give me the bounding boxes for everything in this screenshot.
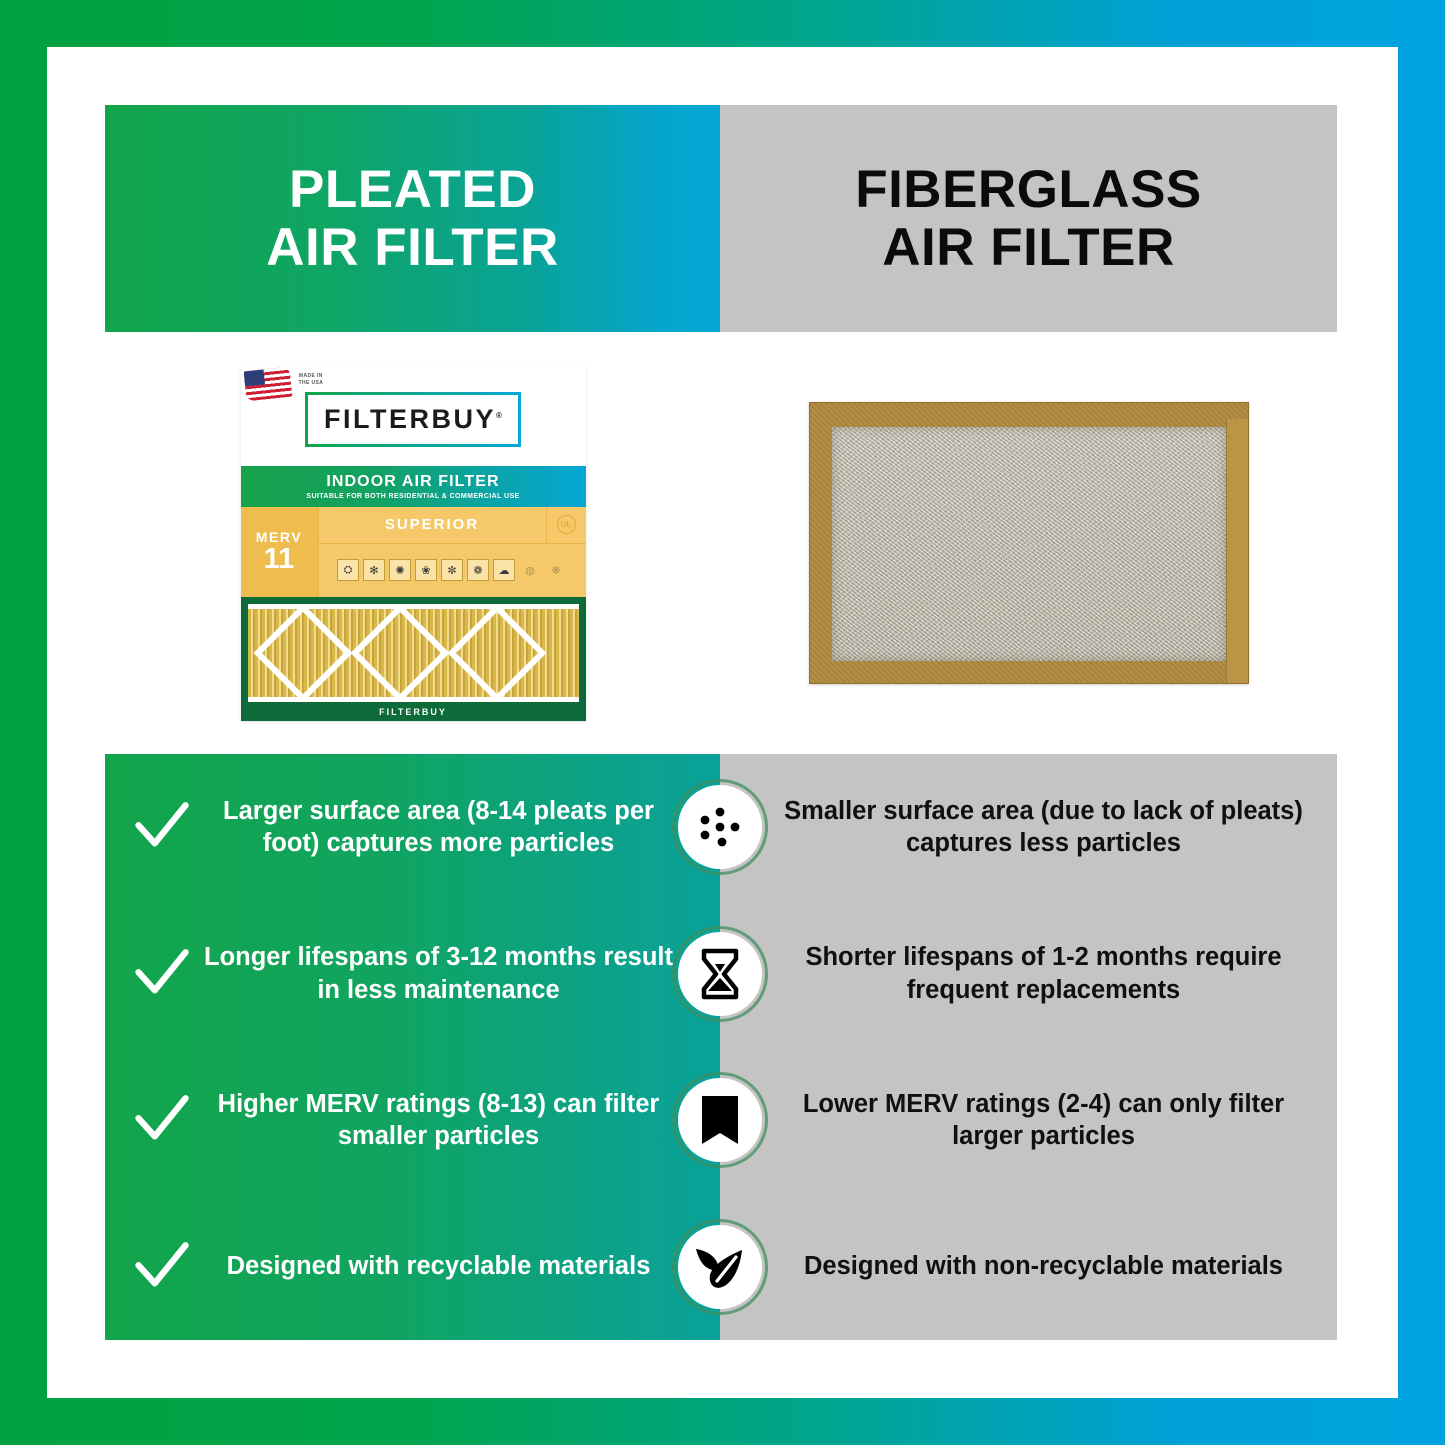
pollen-icon: ❀ (415, 559, 437, 581)
checkmark-icon (133, 798, 191, 856)
tier-row: SUPERIOR UL (319, 507, 586, 544)
pleated-media (248, 604, 579, 702)
header-row: PLEATED AIR FILTER FIBERGLASS AIR FILTER (105, 105, 1337, 332)
ul-mark-text: UL (557, 515, 576, 534)
filterbuy-logo-text: FILTERBUY® (324, 404, 502, 435)
pleated-benefit-text: Designed with recyclable materials (203, 1250, 674, 1283)
tier-label: SUPERIOR (319, 516, 546, 533)
fiberglass-drawback-text: Designed with non-recyclable materials (776, 1250, 1311, 1283)
filter-footer-brand: FILTERBUY (379, 702, 447, 721)
fiberglass-media (832, 427, 1226, 661)
comparison-row-right: Designed with non-recyclable materials (720, 1194, 1337, 1341)
pleated-benefit-text: Higher MERV ratings (8-13) can filter sm… (203, 1088, 674, 1153)
row-icon-badge (672, 1219, 768, 1315)
icon-disc (678, 932, 762, 1016)
indoor-air-filter-title: INDOOR AIR FILTER (326, 473, 499, 491)
pet-dander-icon: ❁ (467, 559, 489, 581)
icon-disc (678, 1078, 762, 1162)
merv-rating-block: MERV 11 (241, 507, 319, 597)
comparison-row: Designed with recyclable materials Desig… (105, 1194, 1337, 1341)
fiberglass-filter-image (809, 402, 1249, 684)
insect-icon: ✻ (363, 559, 385, 581)
row-icon-badge (672, 926, 768, 1022)
infographic-root: PLEATED AIR FILTER FIBERGLASS AIR FILTER (0, 0, 1445, 1445)
icon-disc (678, 1225, 762, 1309)
merv-panel-right: SUPERIOR UL ⛭ ✻ ✺ ❀ ✼ (319, 507, 586, 597)
header-pleated: PLEATED AIR FILTER (105, 105, 720, 332)
fiberglass-drawback-text: Lower MERV ratings (2-4) can only filter… (776, 1088, 1311, 1153)
icon-disc (678, 785, 762, 869)
header-pleated-line2: AIR FILTER (266, 218, 559, 277)
merv-value: 11 (264, 545, 295, 574)
comparison-row-right: Smaller surface area (due to lack of ple… (720, 754, 1337, 901)
comparison-row-right: Shorter lifespans of 1-2 months require … (720, 901, 1337, 1048)
made-in-line2: THE USA (299, 380, 324, 386)
row-icon-badge (672, 779, 768, 875)
leaf-icon (692, 1241, 748, 1293)
comparison-row-left: Larger surface area (8-14 pleats per foo… (105, 754, 720, 901)
fiberglass-product-cell (721, 332, 1337, 754)
registered-trademark-symbol: ® (496, 411, 502, 420)
indoor-air-filter-band: INDOOR AIR FILTER SUITABLE FOR BOTH RESI… (241, 466, 586, 507)
particles-icon (692, 799, 748, 855)
pleated-benefit-text: Larger surface area (8-14 pleats per foo… (203, 795, 674, 860)
comparison-row: Larger surface area (8-14 pleats per foo… (105, 754, 1337, 901)
bacteria-icon: ✺ (389, 559, 411, 581)
header-fiberglass-line2: AIR FILTER (882, 218, 1175, 277)
comparison-row-left: Designed with recyclable materials (105, 1194, 720, 1341)
comparison-row-left: Higher MERV ratings (8-13) can filter sm… (105, 1047, 720, 1194)
made-in-line1: MADE IN (299, 373, 323, 379)
fiberglass-drawback-text: Shorter lifespans of 1-2 months require … (776, 941, 1311, 1006)
support-diamond (350, 604, 449, 702)
feature-icons-row: ⛭ ✻ ✺ ❀ ✼ ❁ ☁ ◍ ❋ (319, 544, 586, 597)
comparison-row-right: Lower MERV ratings (2-4) can only filter… (720, 1047, 1337, 1194)
made-in-usa-label: MADE IN THE USA (299, 373, 324, 388)
header-pleated-title: PLEATED AIR FILTER (266, 161, 559, 275)
comparison-row-left: Longer lifespans of 3-12 months result i… (105, 901, 720, 1048)
products-row: MADE IN THE USA FILTERBUY® INDOOR AIR FI… (105, 332, 1337, 754)
pleated-filter-media-panel: FILTERBUY (241, 597, 586, 721)
support-diamond (253, 604, 352, 702)
pleated-benefit-text: Longer lifespans of 3-12 months result i… (203, 941, 674, 1006)
merv-panel: MERV 11 SUPERIOR UL ⛭ (241, 507, 586, 597)
header-pleated-line1: PLEATED (289, 160, 536, 219)
comparison-row: Longer lifespans of 3-12 months result i… (105, 901, 1337, 1048)
pill-icon: ◍ (519, 559, 541, 581)
row-icon-badge (672, 1072, 768, 1168)
allergen-icon: ❋ (545, 559, 567, 581)
support-diamond (447, 604, 546, 702)
cardboard-frame-side (1226, 419, 1248, 683)
comparison-row: Higher MERV ratings (8-13) can filter sm… (105, 1047, 1337, 1194)
filterbuy-logo-box: FILTERBUY® (305, 392, 521, 447)
pleated-product-cell: MADE IN THE USA FILTERBUY® INDOOR AIR FI… (105, 332, 721, 754)
header-fiberglass: FIBERGLASS AIR FILTER (720, 105, 1337, 332)
hourglass-icon (695, 947, 745, 1001)
pleated-box-top: MADE IN THE USA FILTERBUY® (241, 366, 586, 466)
header-fiberglass-line1: FIBERGLASS (855, 160, 1202, 219)
dust-icon: ⛭ (337, 559, 359, 581)
checkmark-icon (133, 1238, 191, 1296)
header-fiberglass-title: FIBERGLASS AIR FILTER (855, 161, 1202, 275)
fiberglass-drawback-text: Smaller surface area (due to lack of ple… (776, 795, 1311, 860)
mold-icon: ✼ (441, 559, 463, 581)
filterbuy-wordmark: FILTERBUY (324, 404, 496, 434)
comparison-table: Larger surface area (8-14 pleats per foo… (105, 754, 1337, 1340)
smoke-icon: ☁ (493, 559, 515, 581)
checkmark-icon (133, 1091, 191, 1149)
indoor-air-filter-subtitle: SUITABLE FOR BOTH RESIDENTIAL & COMMERCI… (306, 493, 519, 500)
white-card: PLEATED AIR FILTER FIBERGLASS AIR FILTER (47, 47, 1398, 1398)
usa-flag-icon (243, 366, 292, 401)
checkmark-icon (133, 945, 191, 1003)
pleated-filter-image: MADE IN THE USA FILTERBUY® INDOOR AIR FI… (241, 366, 586, 721)
ul-certification-icon: UL (546, 507, 586, 543)
bookmark-icon (697, 1093, 743, 1147)
